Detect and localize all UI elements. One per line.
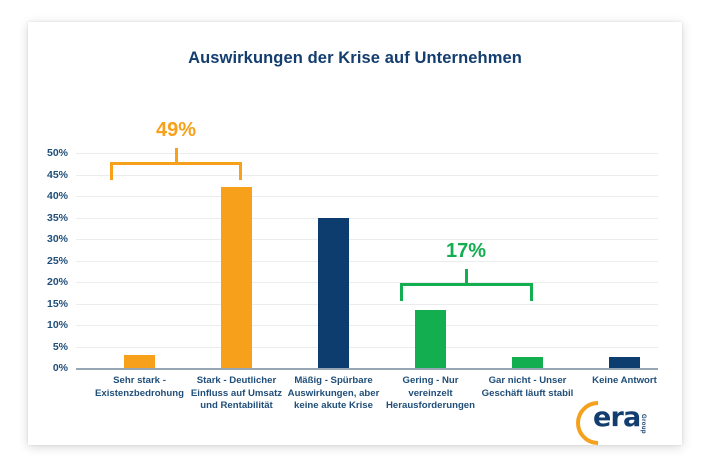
bar-maessig[interactable]	[318, 218, 349, 369]
x-label-line: Geschäft läuft stabil	[470, 388, 585, 401]
y-tick-label: 50%	[47, 147, 68, 159]
y-tick-label: 15%	[47, 298, 68, 310]
annotation-value-49: 49%	[156, 119, 196, 142]
y-tick-label: 25%	[47, 255, 68, 267]
logo-subtitle: Group	[640, 414, 646, 434]
plot-area: 50% 45% 40% 35% 30% 25% 20% 15% 10% 5%	[76, 153, 658, 368]
y-tick-label: 5%	[53, 341, 68, 353]
x-label-keine-antwort: Keine Antwort	[567, 375, 682, 388]
x-axis-line	[76, 368, 658, 370]
bracket-top-line	[110, 162, 242, 165]
y-tick-label: 45%	[47, 169, 68, 181]
bar-stark[interactable]	[221, 187, 252, 368]
bracket-stem	[465, 269, 468, 283]
y-tick-label: 35%	[47, 212, 68, 224]
bar-gar-nicht[interactable]	[512, 357, 543, 368]
y-tick-label: 10%	[47, 319, 68, 331]
annotation-value-17: 17%	[446, 240, 486, 263]
chart-card: Auswirkungen der Krise auf Unternehmen 5…	[28, 22, 682, 445]
annotation-bracket-17	[400, 283, 533, 301]
screenshot-canvas: Auswirkungen der Krise auf Unternehmen 5…	[0, 0, 710, 467]
annotation-bracket-49	[110, 162, 242, 180]
era-group-logo: era Group	[576, 400, 662, 440]
bracket-leg-left	[400, 283, 403, 301]
y-tick-label: 0%	[53, 362, 68, 374]
logo-wordmark: era	[593, 402, 640, 433]
bracket-top-line	[400, 283, 533, 286]
y-tick-label: 20%	[47, 276, 68, 288]
bar-gering[interactable]	[415, 310, 446, 368]
bar-sehr-stark[interactable]	[124, 355, 155, 368]
bracket-stem	[175, 148, 178, 162]
bracket-leg-left	[110, 162, 113, 180]
bracket-leg-right	[530, 283, 533, 301]
bar-keine-antwort[interactable]	[609, 357, 640, 368]
bracket-leg-right	[239, 162, 242, 180]
page-title: Auswirkungen der Krise auf Unternehmen	[28, 49, 682, 68]
y-tick-label: 30%	[47, 233, 68, 245]
x-label-line: Keine Antwort	[567, 375, 682, 388]
x-label-line: Herausforderungen	[373, 400, 488, 413]
y-tick-label: 40%	[47, 190, 68, 202]
